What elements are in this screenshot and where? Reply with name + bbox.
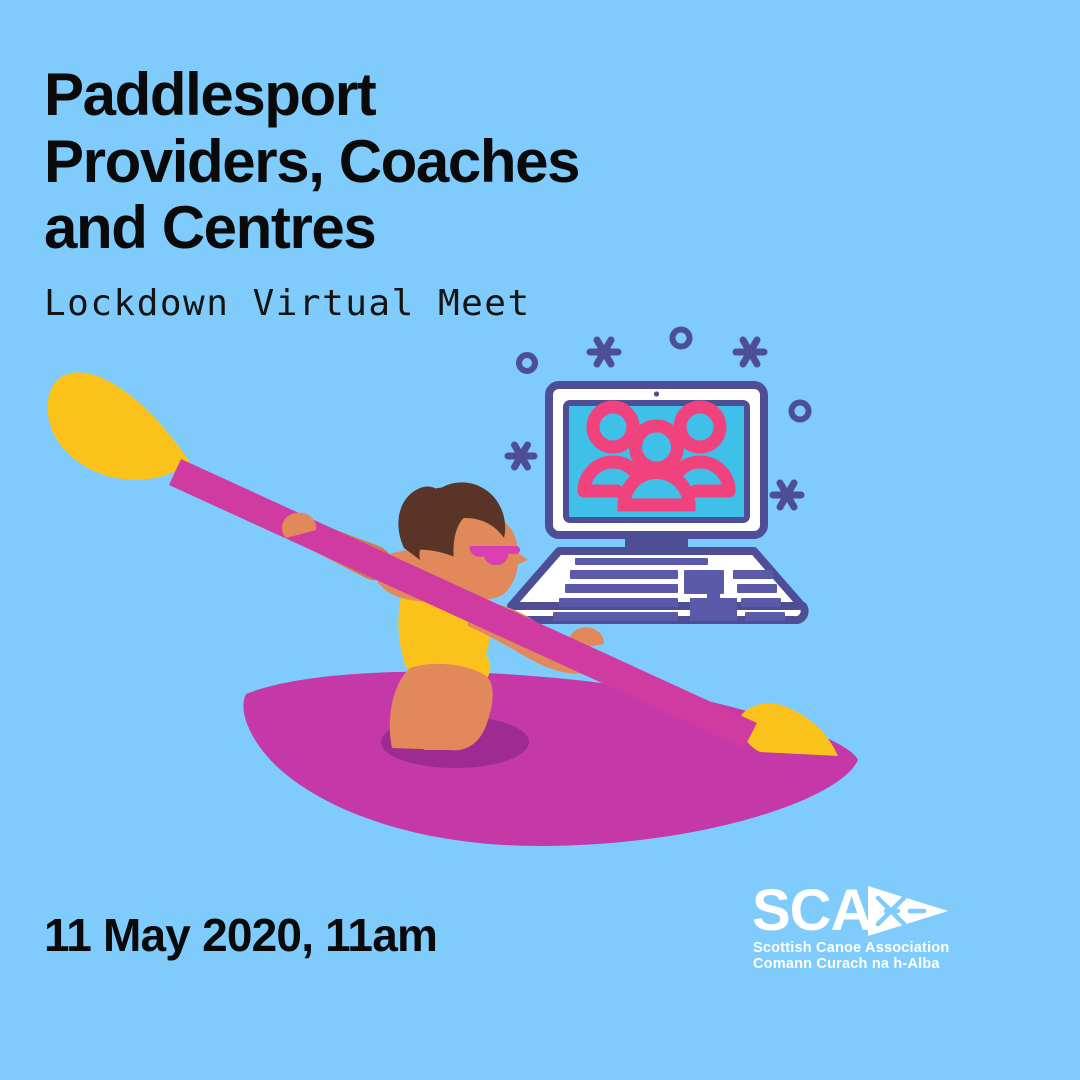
ring-icon (673, 330, 690, 347)
sca-logo-graphic: SCA Scottish Canoe Association Comann Cu… (752, 878, 992, 974)
paddler-hand (568, 627, 604, 650)
laptop-hinge (625, 535, 688, 554)
laptop-illustration (510, 385, 804, 621)
asterisk-icon (590, 340, 618, 364)
sparkles-group (508, 340, 801, 507)
paddler-figure (288, 482, 604, 750)
ring-icon (792, 403, 809, 420)
paddler-upper-hand (282, 513, 316, 538)
ring-icon (519, 355, 535, 371)
page-title: Paddlesport Providers, Coaches and Centr… (44, 62, 684, 262)
event-datetime: 11 May 2020, 11am (44, 908, 437, 962)
laptop-webcam-icon (654, 391, 659, 396)
paddleboard (243, 672, 858, 846)
ring-dots-group (519, 330, 809, 420)
paddler-shorts (403, 643, 490, 680)
laptop-keyboard-keys (553, 558, 785, 621)
laptop-lid (549, 385, 764, 535)
laptop-base-lip (510, 606, 804, 620)
paddler-hair-back (408, 487, 502, 574)
paddler-rear-arm (288, 516, 392, 580)
sca-name-line2: Comann Curach na h-Alba (753, 956, 940, 972)
paddler-front-leg (390, 664, 493, 751)
paddle-shaft (169, 459, 757, 748)
video-call-people-icon (584, 407, 729, 505)
laptop-base (511, 551, 802, 606)
upper-paddle-blade (47, 372, 190, 479)
sca-name-line1: Scottish Canoe Association (753, 940, 949, 956)
sca-logo: SCA Scottish Canoe Association Comann Cu… (752, 878, 992, 974)
paddler-sunglasses (469, 546, 520, 565)
asterisk-icon (508, 445, 534, 467)
paddler-swimsuit (398, 565, 490, 676)
paddler-hair-front (428, 482, 505, 538)
paddler-nose (514, 550, 528, 566)
paddler-head (453, 513, 518, 599)
lower-paddle-blade (740, 703, 838, 756)
paddler-back (374, 550, 475, 602)
saltire-pennant-icon (868, 886, 948, 936)
board-shadow (381, 716, 529, 768)
poster-canvas: Paddlesport Providers, Coaches and Centr… (0, 0, 1080, 1080)
paddler-ponytail (398, 486, 445, 560)
asterisk-icon (773, 483, 801, 507)
paddler-front-arm (468, 602, 598, 674)
sca-wordmark: SCA (752, 878, 872, 943)
asterisk-icon (736, 340, 764, 364)
laptop-screen (566, 403, 747, 520)
subtitle: Lockdown Virtual Meet (44, 283, 531, 324)
paddler-shin (424, 689, 483, 750)
